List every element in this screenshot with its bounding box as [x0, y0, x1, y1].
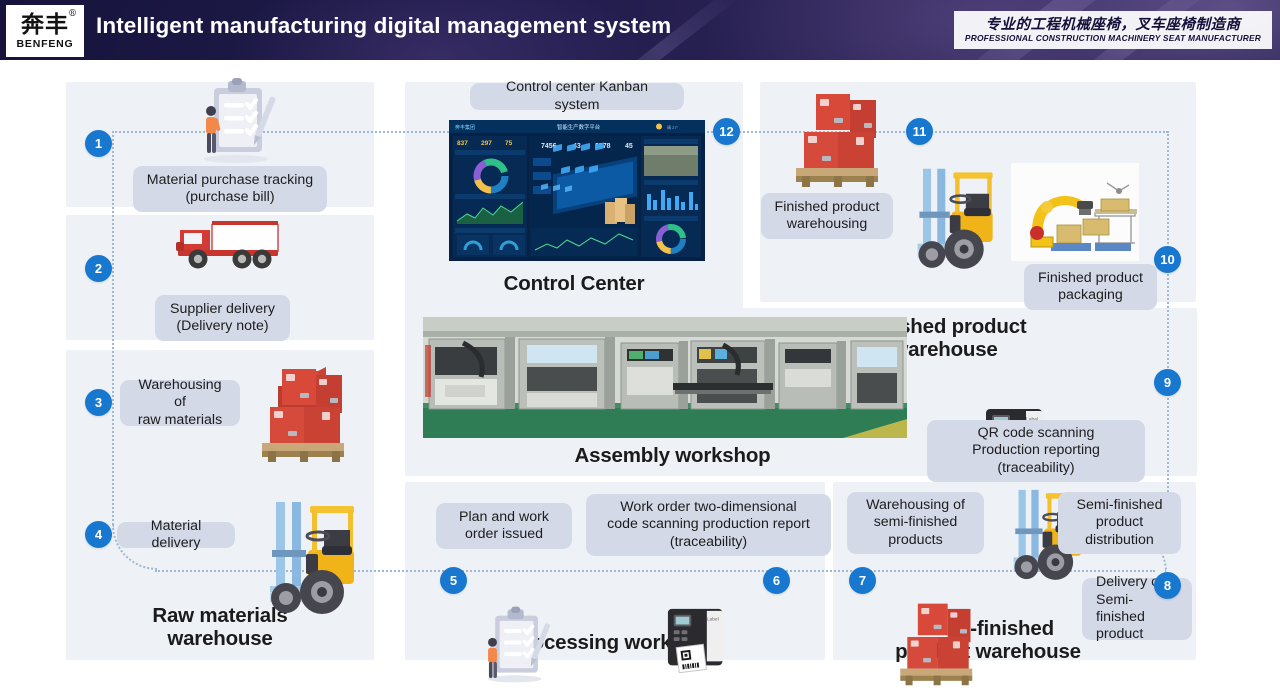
step-badge-2[interactable]: 2: [85, 255, 112, 282]
chip-material-delivery-text: Material delivery: [129, 518, 223, 553]
chip-warehousing-semi-finished-products[interactable]: Warehousing of semi-finished products: [847, 492, 984, 554]
chip-semi-finished-product-distribution[interactable]: Semi-finished product distribution: [1058, 492, 1181, 554]
step-badge-5[interactable]: 5: [440, 567, 467, 594]
slogan-english: PROFESSIONAL CONSTRUCTION MACHINERY SEAT…: [965, 34, 1261, 43]
svg-text:75: 75: [505, 140, 513, 147]
pallet-boxes-icon: [248, 365, 346, 465]
chip-material-purchase-line1: Material purchase tracking: [147, 172, 313, 188]
processing-workshop-title: Processing workshop: [405, 632, 825, 655]
chip-supplier-delivery-line1: Supplier delivery: [170, 301, 275, 317]
forklift-icon: [248, 500, 360, 630]
chip-work-order-code-scanning-report[interactable]: Work order two-dimensional code scanning…: [586, 494, 831, 556]
step-badge-8[interactable]: 8: [1154, 572, 1181, 599]
control-center-title-text: Control Center: [504, 272, 645, 295]
step-badge-4[interactable]: 4: [85, 521, 112, 548]
step-badge-12[interactable]: 12: [713, 118, 740, 145]
control-center-title: Control Center: [405, 273, 743, 296]
delivery-truck-icon: [176, 212, 286, 274]
robot-palletizer-image: [1011, 163, 1139, 261]
chip-plan-work-line2: order issued: [465, 526, 543, 542]
chip-semi-dist-line3: distribution: [1085, 532, 1154, 548]
svg-text:837: 837: [457, 140, 468, 147]
chip-finished-packaging-line2: packaging: [1058, 287, 1123, 303]
logo-chinese-text: 奔丰®: [21, 13, 69, 36]
finished-title-line2: warehouse: [892, 338, 997, 361]
connector-left-vertical: [112, 131, 114, 525]
chip-finished-product-warehousing[interactable]: Finished product warehousing: [761, 193, 893, 239]
company-logo: 奔丰® BENFENG: [6, 5, 84, 57]
chip-supplier-delivery-line2: (Delivery note): [176, 318, 268, 334]
step-badge-10[interactable]: 10: [1154, 246, 1181, 273]
chip-work-order-line2: code scanning production report: [607, 516, 810, 532]
chip-finished-warehousing-line1: Finished product: [775, 199, 880, 215]
chip-finished-packaging-line1: Finished product: [1038, 270, 1143, 286]
semi-finished-pallet-icon: [888, 600, 974, 688]
chip-material-purchase-line2: (purchase bill): [185, 189, 274, 205]
chip-kanban-text: Control center Kanban system: [482, 79, 672, 114]
chip-qr-scan-line1: QR code scanning: [978, 425, 1095, 441]
company-slogan: 专业的工程机械座椅，叉车座椅制造商 PROFESSIONAL CONSTRUCT…: [954, 11, 1272, 49]
svg-text:智能生产数字平台: 智能生产数字平台: [557, 123, 600, 131]
step-badge-6[interactable]: 6: [763, 567, 790, 594]
step-badge-3[interactable]: 3: [85, 389, 112, 416]
chip-supplier-delivery[interactable]: Supplier delivery (Delivery note): [155, 295, 290, 341]
logo-english-text: BENFENG: [17, 39, 74, 50]
step-badge-11[interactable]: 11: [906, 118, 933, 145]
chip-control-center-kanban[interactable]: Control center Kanban system: [470, 83, 684, 110]
chip-delivery-semi-line2: Semi-finished: [1096, 592, 1145, 625]
svg-text:297: 297: [481, 140, 492, 147]
chip-plan-work-line1: Plan and work: [459, 509, 549, 525]
step-badge-7[interactable]: 7: [849, 567, 876, 594]
step-badge-9[interactable]: 9: [1154, 369, 1181, 396]
chip-qr-code-scanning-production-reporting[interactable]: QR code scanning Production reporting (t…: [927, 420, 1145, 482]
slogan-chinese: 专业的工程机械座椅，叉车座椅制造商: [986, 17, 1241, 32]
assembly-workshop-title: Assembly workshop: [500, 445, 845, 468]
svg-text:Label: Label: [707, 617, 719, 623]
chip-delivery-semi-line1: Delivery of: [1096, 574, 1163, 590]
control-center-dashboard-image: 奔丰集团 智能生产数字平台 晴 27° 837 297 75: [449, 120, 705, 261]
clipboard-checklist-icon-5: [472, 606, 554, 684]
chip-qr-scan-line3: (traceability): [997, 460, 1074, 476]
registered-trademark-icon: ®: [68, 10, 78, 19]
chip-semi-dist-line1: Semi-finished: [1077, 497, 1163, 513]
clipboard-checklist-icon: [188, 78, 280, 164]
finished-pallet-boxes-icon: [782, 90, 880, 190]
chip-material-delivery[interactable]: Material delivery: [117, 522, 235, 548]
chip-qr-scan-line2: Production reporting: [972, 442, 1100, 458]
app-header: 奔丰® BENFENG Intelligent manufacturing di…: [0, 0, 1280, 60]
assembly-workshop-image: [423, 317, 907, 438]
chip-warehousing-semi-line3: products: [888, 532, 942, 548]
svg-text:奔丰集团: 奔丰集团: [455, 124, 475, 131]
chip-semi-dist-line2: product: [1096, 514, 1143, 530]
raw-title-line2: warehouse: [167, 627, 272, 650]
label-printer-icon-6: Label: [664, 605, 738, 677]
chip-warehousing-raw-line1: Warehousing of: [138, 377, 221, 410]
step-badge-1[interactable]: 1: [85, 130, 112, 157]
chip-work-order-line3: (traceability): [670, 534, 747, 550]
connector-right-vertical: [1167, 131, 1169, 528]
chip-warehousing-semi-line2: semi-finished: [874, 514, 958, 530]
chip-delivery-semi-line3: product: [1096, 626, 1143, 642]
chip-warehousing-raw-materials[interactable]: Warehousing of raw materials: [120, 380, 240, 426]
diagram-canvas: Raw materials warehouse Control Center F…: [0, 60, 1280, 676]
chip-work-order-line1: Work order two-dimensional: [620, 499, 796, 515]
chip-plan-and-work-order-issued[interactable]: Plan and work order issued: [436, 503, 572, 549]
svg-text:晴 27°: 晴 27°: [667, 124, 679, 130]
chip-warehousing-raw-line2: raw materials: [138, 412, 222, 428]
forklift-finished-icon: [898, 166, 998, 284]
chip-warehousing-semi-line1: Warehousing of: [866, 497, 965, 513]
chip-finished-warehousing-line2: warehousing: [787, 216, 867, 232]
assembly-title-text: Assembly workshop: [575, 444, 771, 467]
chip-material-purchase-tracking[interactable]: Material purchase tracking (purchase bil…: [133, 166, 327, 212]
page-title: Intelligent manufacturing digital manage…: [96, 13, 671, 39]
svg-text:45: 45: [625, 143, 633, 150]
chip-finished-product-packaging[interactable]: Finished product packaging: [1024, 264, 1157, 310]
